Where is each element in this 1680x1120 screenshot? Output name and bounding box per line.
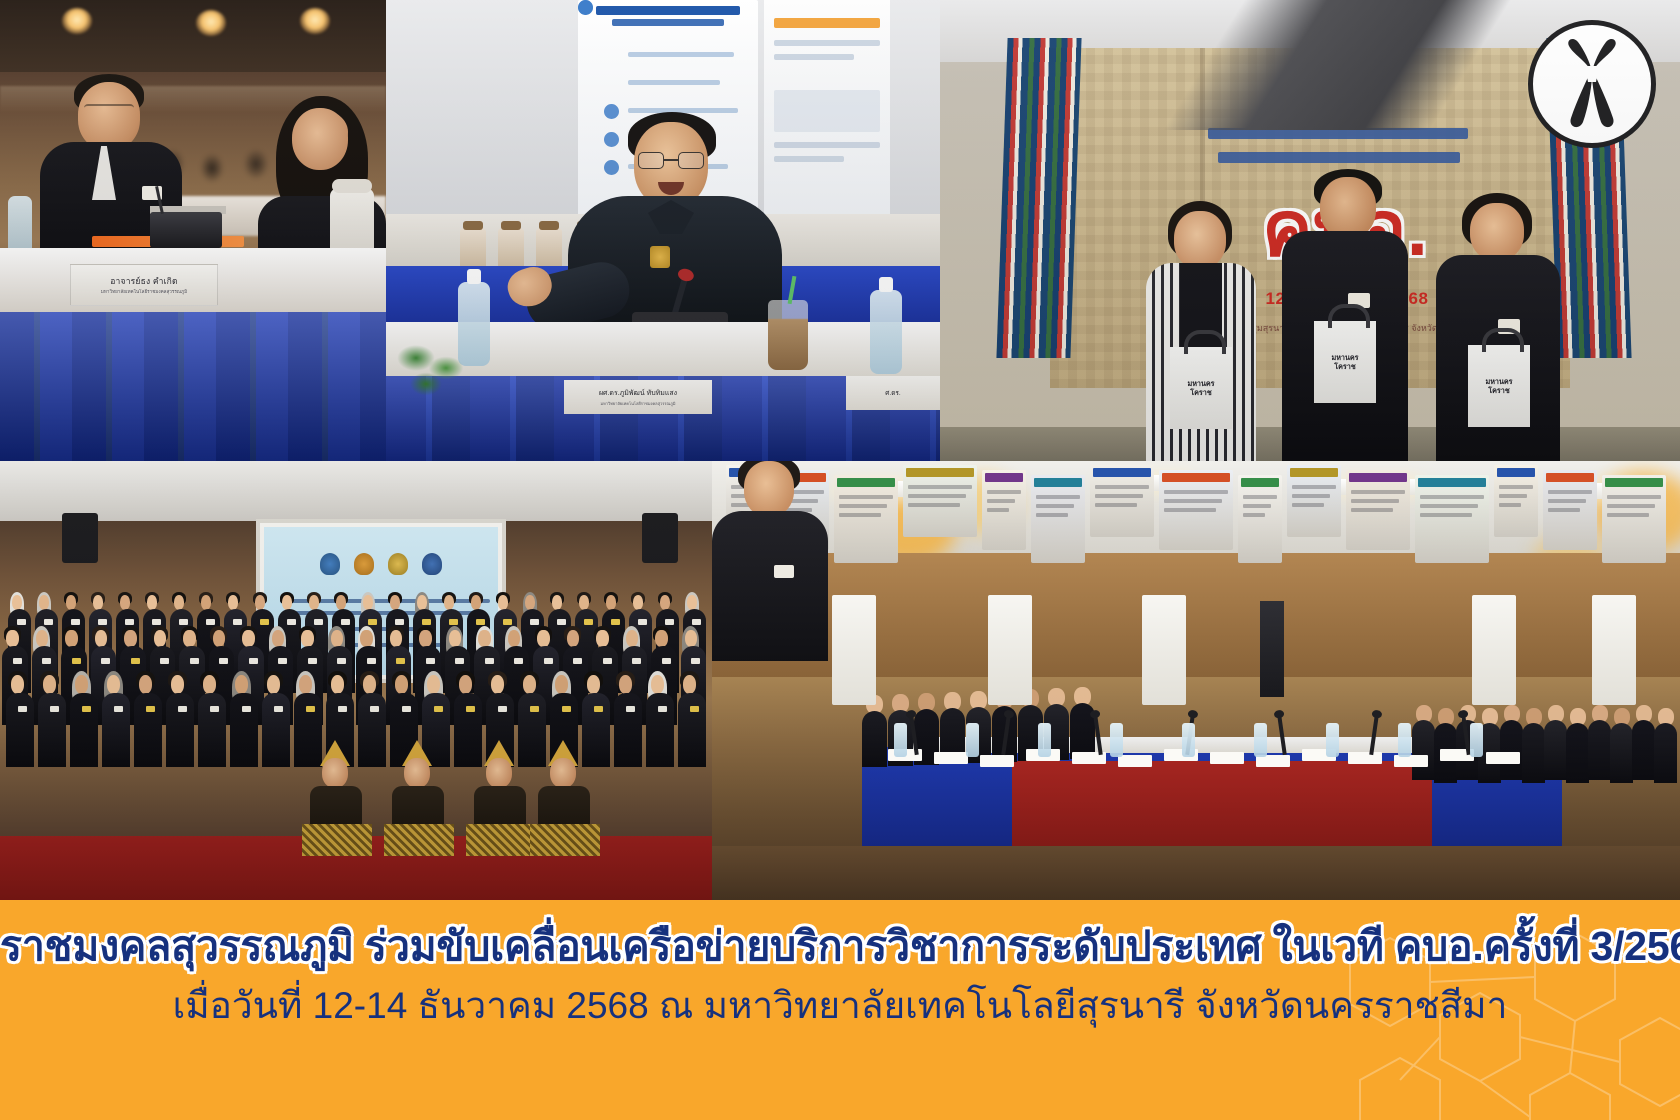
name-badge bbox=[82, 706, 91, 712]
water-bottle bbox=[1470, 723, 1483, 757]
name-badge bbox=[626, 706, 635, 712]
name-badge bbox=[573, 658, 582, 664]
booth-text-line bbox=[1292, 503, 1324, 507]
member-head bbox=[390, 595, 401, 610]
member-head bbox=[183, 630, 195, 647]
booth-text-line bbox=[1607, 495, 1661, 499]
glasses-lens-left bbox=[638, 152, 664, 169]
iced-coffee-cup bbox=[768, 300, 808, 370]
booth-text-line bbox=[1292, 485, 1336, 489]
member-head bbox=[65, 630, 77, 647]
name-badge bbox=[210, 706, 219, 712]
member-head bbox=[213, 630, 225, 647]
name-badge bbox=[562, 706, 571, 712]
seated-participant bbox=[1434, 708, 1458, 782]
nameplate-name: ผศ.ดร.ภูมิพัฒน์ ทับทิมแสง bbox=[599, 388, 677, 399]
member-head bbox=[242, 630, 254, 647]
participant-torso bbox=[1412, 720, 1435, 780]
member-head bbox=[478, 630, 490, 647]
rollup-banner-right bbox=[764, 0, 890, 250]
exhibition-booth-panel bbox=[982, 470, 1026, 550]
member-torso bbox=[198, 693, 226, 767]
banner-subtitle-bar bbox=[612, 19, 724, 26]
booth-text-line bbox=[1420, 504, 1478, 508]
ceiling-lamp-icon bbox=[62, 8, 92, 34]
document-paper bbox=[1118, 755, 1152, 767]
water-bottle bbox=[1326, 723, 1339, 757]
member-head bbox=[606, 595, 617, 610]
name-badge bbox=[662, 658, 671, 664]
seated-participant bbox=[1566, 708, 1590, 782]
member-head bbox=[683, 675, 697, 694]
dancer-head bbox=[322, 758, 348, 788]
booth-text-line bbox=[1499, 485, 1533, 489]
group-member bbox=[102, 667, 132, 765]
thai-dancer bbox=[528, 744, 602, 854]
group-member bbox=[678, 667, 708, 765]
group-member bbox=[262, 667, 292, 765]
glasses-bridge bbox=[664, 159, 678, 161]
dancer-head bbox=[550, 758, 576, 788]
dancer-head bbox=[486, 758, 512, 788]
booth-text-line bbox=[1351, 508, 1393, 512]
attendee-left: มหานคร โคราช bbox=[1140, 201, 1260, 461]
banner-title: ราชมงคลสุวรรณภูมิ ร่วมขับเคลื่อนเครือข่า… bbox=[0, 914, 1680, 979]
member-head bbox=[301, 630, 313, 647]
bag-text-line2: โคราช bbox=[1190, 389, 1211, 397]
member-head bbox=[523, 675, 537, 694]
name-badge bbox=[114, 706, 123, 712]
booth-text-line bbox=[1095, 485, 1149, 489]
exhibition-booth-panel bbox=[1346, 470, 1410, 550]
speaker-head bbox=[744, 461, 794, 517]
booth-header-bar bbox=[1034, 478, 1082, 487]
booth-header-bar bbox=[985, 473, 1023, 482]
member-head bbox=[120, 595, 131, 610]
exhibition-booth-panel bbox=[1238, 475, 1282, 563]
bag-text-line1: มหานคร bbox=[1331, 354, 1358, 362]
member-head bbox=[36, 630, 48, 647]
name-badge bbox=[426, 658, 435, 664]
exhibition-booth-panel bbox=[1415, 475, 1489, 563]
nameplate-name-secondary: ศ.ดร. bbox=[885, 388, 900, 398]
group-member bbox=[70, 667, 100, 765]
booth-text-line bbox=[1164, 499, 1222, 503]
member-head bbox=[660, 595, 671, 610]
member-head bbox=[633, 595, 644, 610]
blue-table-skirt bbox=[0, 312, 386, 461]
water-bottle bbox=[1182, 723, 1195, 757]
standee-poster bbox=[832, 595, 876, 705]
banner-bullet-icon bbox=[604, 132, 619, 147]
standee-poster bbox=[1592, 595, 1636, 705]
name-badge bbox=[774, 565, 794, 578]
name-badge bbox=[402, 706, 411, 712]
water-bottle bbox=[1398, 723, 1411, 757]
ceiling-lamp-icon bbox=[300, 8, 330, 34]
group-member bbox=[6, 667, 36, 765]
member-torso bbox=[678, 693, 706, 767]
attendee-right: มหานคร โคราช bbox=[1436, 193, 1560, 461]
banner-band bbox=[774, 54, 854, 60]
wall-speaker-icon bbox=[62, 513, 98, 563]
name-badge bbox=[691, 658, 700, 664]
water-bottle bbox=[1254, 723, 1267, 757]
water-bottle bbox=[1038, 723, 1051, 757]
name-badge bbox=[190, 658, 199, 664]
name-badge bbox=[72, 658, 81, 664]
name-badge bbox=[434, 706, 443, 712]
member-head bbox=[596, 630, 608, 647]
university-logo-icon bbox=[354, 553, 374, 575]
document-paper bbox=[1486, 752, 1520, 764]
photo-group-photo bbox=[0, 461, 712, 900]
member-head bbox=[336, 595, 347, 610]
member-head bbox=[395, 675, 409, 694]
member-torso bbox=[70, 693, 98, 767]
name-badge bbox=[146, 706, 155, 712]
booth-text-line bbox=[1036, 513, 1068, 517]
water-bottle bbox=[894, 723, 907, 757]
conference-microphone-icon bbox=[150, 212, 222, 248]
exhibition-booth-panel bbox=[834, 475, 898, 563]
name-badge bbox=[160, 658, 169, 664]
banner-title-bar bbox=[596, 6, 740, 15]
backdrop-line-2 bbox=[1218, 152, 1460, 163]
name-badge bbox=[632, 658, 641, 664]
booth-text-line bbox=[1095, 503, 1137, 507]
name-badge bbox=[485, 658, 494, 664]
souvenir-bag: มหานคร โคราช bbox=[1314, 321, 1376, 403]
member-head bbox=[201, 595, 212, 610]
member-head bbox=[124, 630, 136, 647]
member-head bbox=[508, 630, 520, 647]
member-head bbox=[498, 595, 509, 610]
booth-header-bar bbox=[1418, 478, 1486, 487]
booth-header-bar bbox=[1349, 473, 1407, 482]
mourning-ribbon-icon bbox=[1555, 38, 1629, 130]
seated-participant bbox=[1588, 705, 1612, 779]
booth-text-line bbox=[1548, 499, 1586, 503]
attendee-head bbox=[1320, 177, 1376, 239]
booth-text-line bbox=[1164, 490, 1228, 494]
seated-participant bbox=[862, 695, 888, 765]
name-badge bbox=[530, 706, 539, 712]
water-bottle bbox=[966, 723, 979, 757]
banner-band bbox=[774, 156, 844, 162]
banner-band bbox=[774, 18, 880, 28]
seated-participant bbox=[1610, 708, 1634, 782]
banner-band bbox=[774, 40, 880, 46]
wall-speaker-icon bbox=[642, 513, 678, 563]
name-badge bbox=[50, 706, 59, 712]
booth-text-line bbox=[908, 503, 960, 507]
photo-backdrop-group: คบอ. 12-14 ธันวาคม 2568 ณ ห้องประชุมสุรน… bbox=[940, 0, 1680, 461]
member-head bbox=[93, 595, 104, 610]
booth-text-line bbox=[839, 513, 881, 517]
document-paper bbox=[1210, 752, 1244, 764]
participant-torso bbox=[1610, 723, 1633, 783]
name-badge bbox=[367, 658, 376, 664]
member-head bbox=[331, 675, 345, 694]
souvenir-bag: มหานคร โคราช bbox=[1170, 347, 1232, 429]
participant-torso bbox=[1522, 723, 1545, 783]
mourning-ribbon-badge bbox=[1528, 20, 1656, 148]
seated-participant bbox=[1522, 708, 1546, 782]
name-badge bbox=[13, 658, 22, 664]
university-logos bbox=[264, 553, 498, 575]
souvenir-bag: มหานคร โคราช bbox=[1468, 345, 1530, 427]
member-torso bbox=[102, 693, 130, 767]
name-badge bbox=[308, 658, 317, 664]
banner-bullet-icon bbox=[604, 104, 619, 119]
booth-text-line bbox=[1243, 504, 1271, 508]
name-badge bbox=[338, 706, 347, 712]
banner-band bbox=[774, 142, 880, 148]
group-member bbox=[166, 667, 196, 765]
thai-dancer bbox=[300, 744, 374, 854]
attendee-center: มหานคร โคราช bbox=[1280, 171, 1410, 461]
member-head bbox=[626, 630, 638, 647]
seated-participant bbox=[1544, 705, 1568, 779]
nameplate-subtitle: มหาวิทยาลัยเทคโนโลยีราชมงคลสุวรรณภูมิ bbox=[600, 400, 675, 407]
name-badge bbox=[514, 658, 523, 664]
name-badge bbox=[466, 706, 475, 712]
booth-text-line bbox=[1499, 503, 1521, 507]
dancer-skirt bbox=[384, 824, 454, 856]
booth-text-line bbox=[839, 495, 893, 499]
document-paper bbox=[980, 755, 1014, 767]
member-head bbox=[6, 630, 18, 647]
member-head bbox=[587, 675, 601, 694]
participant-torso bbox=[1654, 723, 1677, 783]
participant-torso bbox=[1588, 720, 1611, 780]
participant-torso bbox=[1500, 720, 1523, 780]
bag-text-line2: โคราช bbox=[1488, 387, 1509, 395]
name-badge bbox=[249, 658, 258, 664]
banner-text-line bbox=[628, 80, 720, 85]
booth-header-bar bbox=[906, 468, 974, 477]
booth-text-line bbox=[1351, 490, 1405, 494]
university-logo-icon bbox=[422, 553, 442, 575]
booth-text-line bbox=[1607, 513, 1649, 517]
bag-text-line1: มหานคร bbox=[1187, 380, 1214, 388]
member-torso bbox=[646, 693, 674, 767]
group-member bbox=[134, 667, 164, 765]
exhibition-booth-panel bbox=[1090, 465, 1154, 537]
member-head bbox=[444, 595, 455, 610]
dancer-skirt bbox=[466, 824, 536, 856]
chest-emblem-icon bbox=[650, 246, 670, 268]
booth-header-bar bbox=[1605, 478, 1663, 487]
exhibition-booth-panel bbox=[1031, 475, 1085, 563]
booth-header-bar bbox=[1162, 473, 1230, 482]
standing-flag bbox=[1260, 601, 1284, 697]
desk-nameplate-secondary: ศ.ดร. bbox=[846, 376, 940, 410]
document-paper bbox=[1348, 752, 1382, 764]
member-head bbox=[459, 675, 473, 694]
member-head bbox=[66, 595, 77, 610]
name-badge bbox=[18, 706, 27, 712]
seated-participant bbox=[1412, 705, 1436, 779]
exhibition-booth-panel bbox=[1543, 470, 1597, 550]
member-head bbox=[255, 595, 266, 610]
photo-panel-table: อาจารย์ธง คำเกิด มหาวิทยาลัยเทคโนโลยีราช… bbox=[0, 0, 386, 461]
member-head bbox=[147, 595, 158, 610]
upper-wall bbox=[0, 461, 712, 521]
desk-nameplate: อาจารย์ธง คำเกิด มหาวิทยาลัยเทคโนโลยีราช… bbox=[70, 264, 218, 306]
member-head bbox=[309, 595, 320, 610]
member-torso bbox=[134, 693, 162, 767]
exhibition-booth-panel bbox=[1159, 470, 1233, 550]
bag-text-line1: มหานคร bbox=[1485, 378, 1512, 386]
booth-text-line bbox=[1351, 499, 1399, 503]
member-torso bbox=[38, 693, 66, 767]
booth-text-line bbox=[1499, 494, 1527, 498]
member-head bbox=[619, 675, 633, 694]
member-head bbox=[174, 595, 185, 610]
booth-header-bar bbox=[1093, 468, 1151, 477]
caption-footer: ราชมงคลสุวรรณภูมิ ร่วมขับเคลื่อนเครือข่า… bbox=[0, 900, 1680, 1120]
member-head bbox=[267, 675, 281, 694]
member-head bbox=[537, 630, 549, 647]
name-badge bbox=[242, 706, 251, 712]
water-bottle bbox=[870, 290, 902, 374]
thai-dancer bbox=[464, 744, 538, 854]
banner-text-line bbox=[628, 52, 734, 57]
member-head bbox=[363, 675, 377, 694]
name-badge bbox=[544, 658, 553, 664]
name-badge bbox=[101, 658, 110, 664]
name-badge bbox=[178, 706, 187, 712]
attendee-head bbox=[1470, 203, 1524, 261]
man-head bbox=[78, 82, 140, 150]
photo-speaker: ผศ.ดร.ภูมิพัฒน์ ทับทิมแสง มหาวิทยาลัยเทค… bbox=[386, 0, 940, 461]
booth-header-bar bbox=[837, 478, 895, 487]
booth-text-line bbox=[908, 494, 966, 498]
speaker-torso bbox=[712, 511, 828, 661]
banner-bullet-icon bbox=[604, 160, 619, 175]
name-badge bbox=[658, 706, 667, 712]
banner-image-block bbox=[774, 90, 880, 132]
group-member bbox=[230, 667, 260, 765]
member-head bbox=[449, 630, 461, 647]
member-head bbox=[419, 630, 431, 647]
seated-participant bbox=[1632, 705, 1656, 779]
participant-torso bbox=[1566, 723, 1589, 783]
group-member bbox=[646, 667, 676, 765]
university-logo-icon bbox=[320, 553, 340, 575]
name-badge bbox=[274, 706, 283, 712]
ceiling bbox=[0, 0, 386, 72]
glasses-lens-right bbox=[678, 152, 704, 169]
seated-participant bbox=[1070, 687, 1096, 757]
name-badge bbox=[370, 706, 379, 712]
booth-text-line bbox=[1036, 504, 1074, 508]
member-head bbox=[685, 630, 697, 647]
name-badge bbox=[337, 658, 346, 664]
member-head bbox=[171, 675, 185, 694]
member-torso bbox=[262, 693, 290, 767]
booth-header-bar bbox=[1290, 468, 1338, 477]
name-badge bbox=[396, 658, 405, 664]
booth-text-line bbox=[1420, 513, 1472, 517]
name-badge bbox=[42, 658, 51, 664]
member-head bbox=[579, 595, 590, 610]
foreground-table bbox=[712, 846, 1680, 900]
booth-text-line bbox=[987, 508, 1009, 512]
dancer-head bbox=[404, 758, 430, 788]
name-badge bbox=[594, 706, 603, 712]
event-banner: อาจารย์ธง คำเกิด มหาวิทยาลัยเทคโนโลยีราช… bbox=[0, 0, 1680, 1120]
exhibition-booth-panel bbox=[1494, 465, 1538, 537]
booth-text-line bbox=[1095, 494, 1143, 498]
participant-torso bbox=[1632, 720, 1655, 780]
booth-text-line bbox=[1607, 504, 1655, 508]
booth-header-bar bbox=[1497, 468, 1535, 477]
member-head bbox=[203, 675, 217, 694]
banner-subtitle: เมื่อวันที่ 12-14 ธันวาคม 2568 ณ มหาวิทย… bbox=[0, 976, 1680, 1035]
booth-header-bar bbox=[1241, 478, 1279, 487]
booth-text-line bbox=[839, 504, 887, 508]
red-table-runner bbox=[1012, 761, 1432, 847]
exhibition-booth-panel bbox=[1602, 475, 1666, 563]
booth-text-line bbox=[1548, 490, 1592, 494]
booth-text-line bbox=[1036, 495, 1080, 499]
member-head bbox=[272, 630, 284, 647]
member-head bbox=[567, 630, 579, 647]
photo-conference-hall bbox=[712, 461, 1680, 900]
booth-text-line bbox=[908, 485, 972, 489]
member-head bbox=[282, 595, 293, 610]
thai-dancer bbox=[382, 744, 456, 854]
bag-text-line2: โคราช bbox=[1334, 363, 1355, 371]
member-head bbox=[471, 595, 482, 610]
member-head bbox=[11, 675, 25, 694]
name-badge bbox=[690, 706, 699, 712]
water-bottle bbox=[1110, 723, 1123, 757]
member-torso bbox=[614, 693, 642, 767]
member-head bbox=[390, 630, 402, 647]
name-badge bbox=[219, 658, 228, 664]
document-paper bbox=[934, 752, 968, 764]
man-glasses-icon bbox=[84, 104, 134, 115]
booth-text-line bbox=[1243, 513, 1265, 517]
name-badge bbox=[603, 658, 612, 664]
nameplate-subtitle: มหาวิทยาลัยเทคโนโลยีราชมงคลสุวรรณภูมิ bbox=[101, 289, 187, 296]
member-head bbox=[491, 675, 505, 694]
banner-bullet-icon bbox=[578, 0, 593, 15]
name-badge bbox=[131, 658, 140, 664]
booth-text-line bbox=[1292, 494, 1330, 498]
exhibition-booth-panel bbox=[903, 465, 977, 537]
member-torso bbox=[166, 693, 194, 767]
ceiling-lamp-icon bbox=[196, 10, 226, 36]
participant-torso bbox=[862, 711, 887, 767]
decorative-plant bbox=[396, 338, 470, 406]
group-member bbox=[38, 667, 68, 765]
attendee-head bbox=[1174, 211, 1226, 269]
photo-collage: อาจารย์ธง คำเกิด มหาวิทยาลัยเทคโนโลยีราช… bbox=[0, 0, 1680, 900]
standee-poster bbox=[1142, 595, 1186, 705]
group-member bbox=[614, 667, 644, 765]
member-head bbox=[95, 630, 107, 647]
name-badge bbox=[498, 706, 507, 712]
member-head bbox=[331, 630, 343, 647]
desk-nameplate: ผศ.ดร.ภูมิพัฒน์ ทับทิมแสง มหาวิทยาลัยเทค… bbox=[564, 380, 712, 414]
member-head bbox=[360, 630, 372, 647]
exhibition-booth-panel bbox=[1287, 465, 1341, 537]
